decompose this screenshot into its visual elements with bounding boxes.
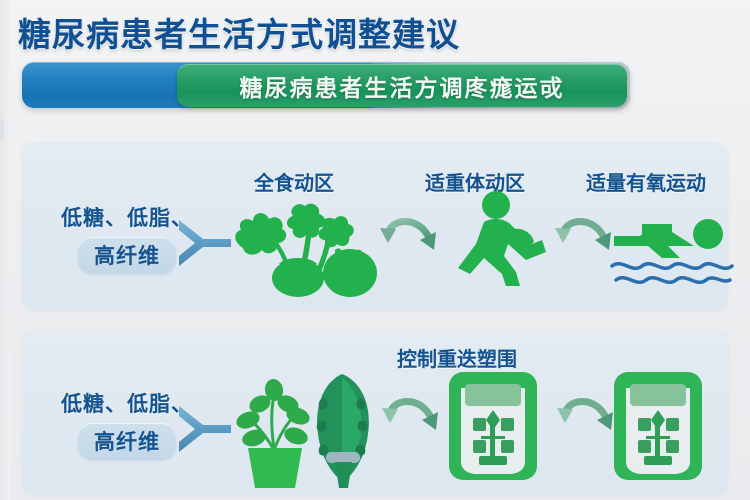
column-title-aerobic: 适量有氧运动	[586, 167, 706, 196]
potted-plant-icon	[230, 360, 380, 490]
banner-label: 糖尿病患者生活方调庝痝运戓	[240, 69, 565, 103]
edge-notch	[0, 118, 4, 140]
poster-root: 糖尿病患者生活方式调整建议 糖尿病患者生活方调庝痝运戓 全食动区 适重体动区 适…	[0, 0, 750, 500]
weighing-scale-icon	[612, 370, 704, 482]
row-diet-exercise-card: 全食动区 适重体动区 适量有氧运动 低糖、低脂、 高纤维	[22, 142, 728, 310]
page-title: 糖尿病患者生活方式调整建议	[18, 8, 460, 56]
vegetables-icon	[227, 190, 377, 295]
swimmer-icon	[610, 210, 735, 288]
curved-arrow-icon	[555, 212, 615, 260]
row-heading-weight-control: 控制重迭塑围	[397, 343, 517, 372]
arrow-right-fork-icon	[177, 400, 237, 458]
left-label-pill: 高纤维	[78, 237, 176, 274]
banner-green-pill: 糖尿病患者生活方调庝痝运戓	[177, 64, 627, 107]
row-weight-control-card: 控制重迭塑围 低糖、低脂、 高纤维	[22, 330, 728, 495]
weighing-scale-icon	[447, 370, 539, 482]
left-label-pill: 高纤维	[78, 423, 176, 460]
curved-arrow-icon	[382, 392, 442, 440]
banner: 糖尿病患者生活方调庝痝运戓	[22, 62, 630, 110]
curved-arrow-icon	[380, 212, 440, 260]
curved-arrow-icon	[557, 392, 617, 440]
left-edge-strip	[0, 0, 10, 500]
running-person-icon	[454, 190, 559, 290]
